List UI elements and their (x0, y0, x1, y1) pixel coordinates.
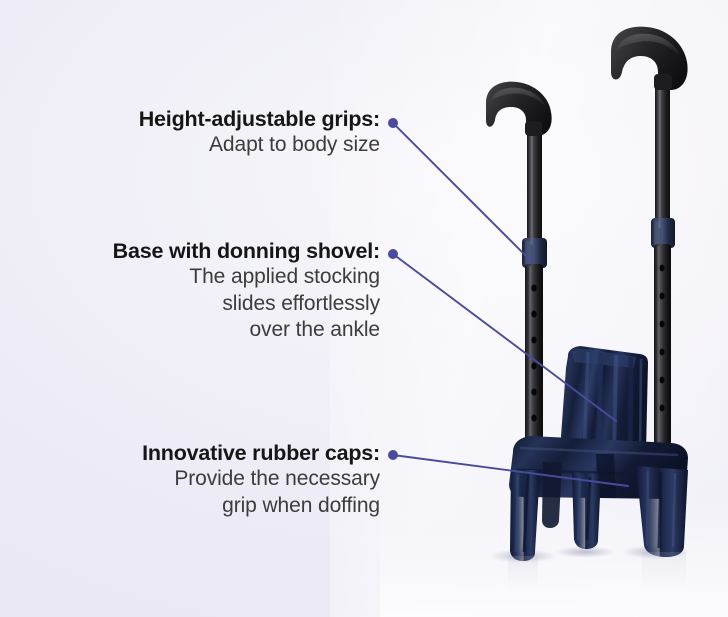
callout-body-line: slides effortlessly (20, 291, 380, 317)
callout-body-line: Provide the necessary (20, 466, 380, 492)
callout-title: Innovative rubber caps: (20, 440, 380, 466)
pole-right (651, 78, 675, 466)
callout-body: The applied stocking slides effortlessly… (20, 264, 380, 343)
callout-body: Provide the necessary grip when doffing (20, 466, 380, 519)
handle-left (486, 82, 552, 136)
legs-with-rubber-caps (510, 462, 688, 561)
callout-list: Height-adjustable grips: Adapt to body s… (0, 0, 380, 617)
floor-reflection-leg (508, 556, 538, 590)
floor-reflection-leg (642, 552, 686, 588)
pole-left (522, 125, 547, 478)
handle-right (611, 27, 688, 90)
callout-base-with-donning-shovel: Base with donning shovel: The applied st… (20, 238, 380, 344)
callout-body-line: Adapt to body size (20, 132, 380, 158)
callout-innovative-rubber-caps: Innovative rubber caps: Provide the nece… (20, 440, 380, 519)
rubber-cap-back-left (542, 462, 562, 528)
callout-height-adjustable-grips: Height-adjustable grips: Adapt to body s… (20, 106, 380, 159)
callout-body-line: grip when doffing (20, 493, 380, 519)
callout-body-line: The applied stocking (20, 264, 380, 290)
callout-title: Height-adjustable grips: (20, 106, 380, 132)
callout-body: Adapt to body size (20, 132, 380, 158)
callout-title: Base with donning shovel: (20, 238, 380, 264)
infographic-stage: Height-adjustable grips: Adapt to body s… (0, 0, 728, 617)
callout-body-line: over the ankle (20, 317, 380, 343)
